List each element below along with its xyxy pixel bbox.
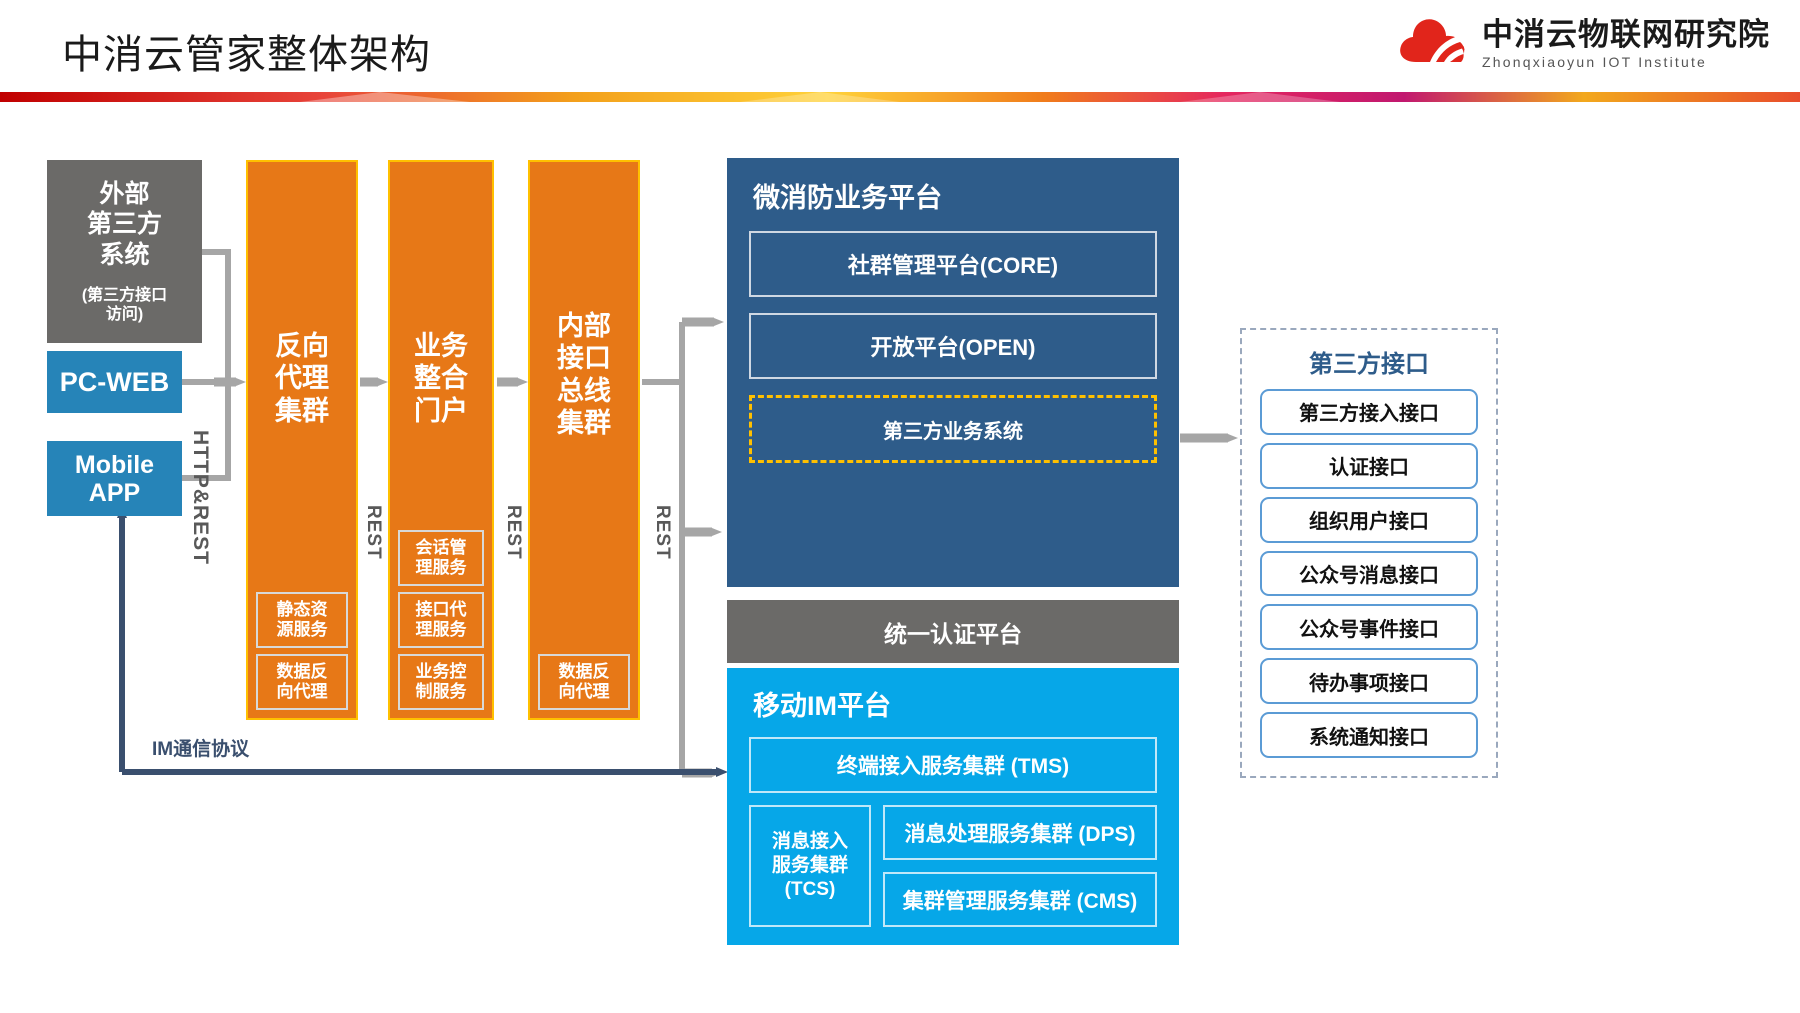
reverse-proxy-cluster-box[interactable]: 反向 代理 集群 静态资 源服务 数据反 向代理 [246,160,358,720]
sub-ifproxy-line-1: 接口代 [402,600,480,620]
business-portal-box[interactable]: 业务 整合 门户 会话管 理服务 接口代 理服务 业务控 制服务 [388,160,494,720]
tcs-line-3: (TCS) [785,878,836,902]
ext-sys-note-1: (第三方接口 [82,286,167,305]
proxy-title-3: 集群 [248,395,356,427]
community-management-core-box[interactable]: 社群管理平台(CORE) [749,231,1157,297]
interface-item-todo[interactable]: 待办事项接口 [1260,658,1478,704]
label-im-protocol: IM通信协议 [152,734,249,761]
third-party-business-system-box[interactable]: 第三方业务系统 [749,395,1157,463]
logo-text-cn: 中消云物联网研究院 [1482,18,1770,52]
logo-text-en: Zhonqxiaoyun IOT Institute [1482,54,1770,70]
interface-item-authentication[interactable]: 认证接口 [1260,443,1478,489]
mobile-im-platform-panel[interactable]: 移动IM平台 终端接入服务集群 (TMS) 消息接入 服务集群 (TCS) 消息… [727,668,1179,945]
sub-session-line-1: 会话管 [402,538,480,558]
sub-business-control-service[interactable]: 业务控 制服务 [398,654,484,710]
page-title: 中消云管家整体架构 [62,22,431,80]
interface-item-org-user[interactable]: 组织用户接口 [1260,497,1478,543]
open-platform-box[interactable]: 开放平台(OPEN) [749,313,1157,379]
sub-datarp-line-2: 向代理 [260,682,344,702]
ext-sys-line-2: 第三方 [87,209,162,240]
unified-auth-platform-box[interactable]: 统一认证平台 [727,600,1179,663]
red-cloud-logo-icon [1396,12,1468,76]
mobile-app-line-1: Mobile [75,451,154,479]
sub-ifproxy-line-2: 理服务 [402,620,480,640]
sub-static-resource-service[interactable]: 静态资 源服务 [256,592,348,648]
sub-session-management-service[interactable]: 会话管 理服务 [398,530,484,586]
external-third-party-system-box[interactable]: 外部 第三方 系统 (第三方接口 访问) [47,160,202,343]
mobile-app-line-2: APP [89,479,140,507]
sub-static-line-2: 源服务 [260,620,344,640]
sub-bizctl-line-1: 业务控 [402,662,480,682]
cluster-management-service-cms-box[interactable]: 集群管理服务集群 (CMS) [883,872,1157,927]
ext-sys-line-1: 外部 [87,179,162,210]
sub-static-line-1: 静态资 [260,600,344,620]
im-platform-title: 移动IM平台 [753,684,1157,723]
ext-sys-line-3: 系统 [87,240,162,271]
bus-title-1: 内部 [530,310,638,342]
sub-session-line-2: 理服务 [402,558,480,578]
interface-item-system-notification[interactable]: 系统通知接口 [1260,712,1478,758]
bus-title-4: 集群 [530,407,638,439]
architecture-diagram: 外部 第三方 系统 (第三方接口 访问) PC-WEB Mobile APP 反… [0,100,1800,1013]
brand-logo: 中消云物联网研究院 Zhonqxiaoyun IOT Institute [1396,12,1770,76]
internal-interface-bus-box[interactable]: 内部 接口 总线 集群 数据反 向代理 [528,160,640,720]
interface-item-third-party-access[interactable]: 第三方接入接口 [1260,389,1478,435]
portal-title-2: 整合 [390,362,492,394]
ext-sys-note-2: 访问) [82,305,167,324]
message-access-service-tcs-box[interactable]: 消息接入 服务集群 (TCS) [749,805,871,927]
terminal-access-service-tms-box[interactable]: 终端接入服务集群 (TMS) [749,737,1157,793]
bus-title-2: 接口 [530,342,638,374]
interface-item-official-account-message[interactable]: 公众号消息接口 [1260,551,1478,597]
interface-item-official-account-event[interactable]: 公众号事件接口 [1260,604,1478,650]
label-rest-1: REST [362,505,384,560]
sub-interface-proxy-service[interactable]: 接口代 理服务 [398,592,484,648]
portal-title-1: 业务 [390,330,492,362]
sub-busrp-line-1: 数据反 [542,662,626,682]
bus-title-3: 总线 [530,375,638,407]
proxy-title-2: 代理 [248,362,356,394]
pc-web-box[interactable]: PC-WEB [47,351,182,413]
message-process-service-dps-box[interactable]: 消息处理服务集群 (DPS) [883,805,1157,860]
mobile-app-box[interactable]: Mobile APP [47,441,182,516]
business-platform-panel[interactable]: 微消防业务平台 社群管理平台(CORE) 开放平台(OPEN) 第三方业务系统 [727,158,1179,587]
tcs-line-2: 服务集群 [772,854,848,878]
tcs-line-1: 消息接入 [772,830,848,854]
sub-busrp-line-2: 向代理 [542,682,626,702]
page-header: 中消云管家整体架构 中消云物联网研究院 Zhonqxiaoyun IOT Ins… [0,0,1800,100]
label-rest-2: REST [502,505,524,560]
sub-datarp-line-1: 数据反 [260,662,344,682]
sub-bizctl-line-2: 制服务 [402,682,480,702]
label-http-rest: HTTP&REST [188,430,212,565]
portal-title-3: 门户 [390,395,492,427]
sub-data-reverse-proxy[interactable]: 数据反 向代理 [256,654,348,710]
business-platform-title: 微消防业务平台 [753,176,1157,215]
proxy-title-1: 反向 [248,330,356,362]
sub-bus-data-reverse-proxy[interactable]: 数据反 向代理 [538,654,630,710]
third-party-interface-panel[interactable]: 第三方接口 第三方接入接口 认证接口 组织用户接口 公众号消息接口 公众号事件接… [1240,328,1498,778]
third-party-panel-title: 第三方接口 [1260,344,1478,379]
label-rest-3: REST [651,505,673,560]
